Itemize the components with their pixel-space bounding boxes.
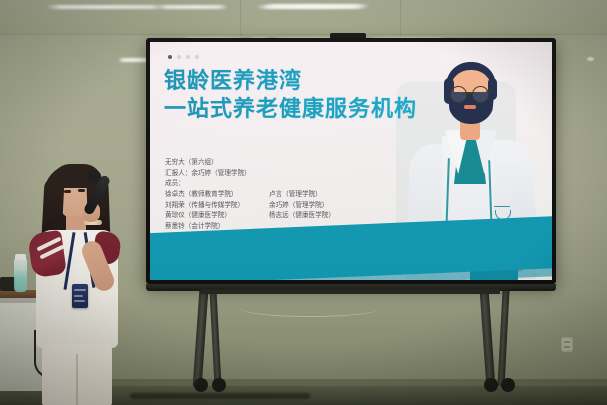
ceiling-light-reflection [262,4,370,8]
slide-dot-icon [186,55,190,59]
slide-dot-icon [168,55,172,59]
glasses-icon [450,86,467,103]
wall-seam [0,34,607,35]
ceiling-light-reflection [158,5,228,9]
glasses-bridge-icon [465,92,473,94]
member-name: 余巧婷（管理学院） [269,201,328,212]
wall-fixture [587,57,594,61]
stand-cord [240,300,380,317]
slide-dot-icon [177,55,181,59]
member-name: 杨志远（健康医学院） [269,211,335,222]
credits-member-row: 黄琼仪（健康医学院） 杨志远（健康医学院） [165,211,415,222]
badge-line [74,289,86,291]
stand-caster [212,378,226,392]
credits-presenter: 汇报人：余巧婷（管理学院） [165,169,415,180]
name-badge [72,284,88,308]
member-name: 卢言（管理学院） [269,190,322,201]
slide-dot-icon [195,55,199,59]
water-bottle-cap [15,254,26,260]
stand-caster [194,378,208,392]
member-name: 徐卓杰（教师教育学院） [165,190,269,201]
badge-line [74,295,83,297]
wall-outlet [561,337,573,352]
presenter-eye [78,189,85,192]
presenter-trouser-seam [76,354,78,405]
stand-crossbar [200,289,500,294]
display-screen[interactable]: 银龄医养港湾 一站式养老健康服务机构 无穷大（第六组） 汇报人：余巧婷（管理学院… [150,42,552,280]
doctor-mouth [464,105,476,109]
wall-seam [400,0,401,36]
member-name: 黄琼仪（健康医学院） [165,211,269,222]
credits-team: 无穷大（第六组） [165,158,415,169]
slide-credits: 无穷大（第六组） 汇报人：余巧婷（管理学院） 成员： 徐卓杰（教师教育学院） 卢… [165,158,415,233]
wall-seam [240,0,241,36]
credits-member-row: 刘翔荣（传播与传媒学院） 余巧婷（管理学院） [165,201,415,212]
microphone-head-icon [87,170,101,183]
ceiling-light-reflection [46,5,166,9]
glasses-icon [472,86,489,103]
presentation-room-photo: 银龄医养港湾 一站式养老健康服务机构 无穷大（第六组） 汇报人：余巧婷（管理学院… [0,0,607,405]
stand-caster [501,378,515,392]
stand-caster [484,378,498,392]
badge-line [74,300,85,302]
credits-member-row: 徐卓杰（教师教育学院） 卢言（管理学院） [165,190,415,201]
presenter-eye [64,190,71,193]
presentation-slide: 银龄医养港湾 一站式养老健康服务机构 无穷大（第六组） 汇报人：余巧婷（管理学院… [150,42,552,280]
credits-members-label: 成员： [165,179,415,190]
presenter-person [26,158,144,405]
floor-cable [130,393,310,399]
member-name: 刘翔荣（传播与传媒学院） [165,201,269,212]
slide-dot-indicator [168,55,199,59]
